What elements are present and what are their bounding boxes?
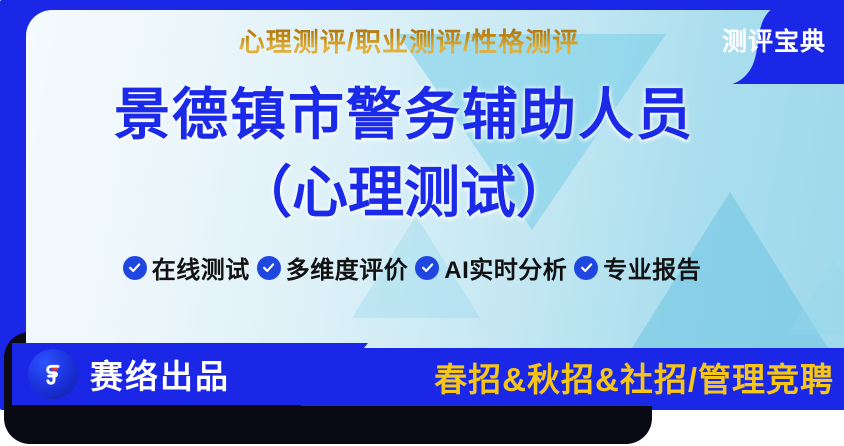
check-circle-icon [123,256,147,280]
feature-item: 专业报告 [574,250,701,285]
feature-label: AI实时分析 [444,250,567,285]
promo-banner: 心理测评/职业测评/性格测评 测评宝典 景德镇市警务辅助人员 （心理测试） 在线… [0,0,844,446]
check-circle-icon [574,256,598,280]
footer-promo-bar: 春招&秋招&社招/管理竞聘 [300,348,844,406]
sailuo-s-logo-icon [28,349,78,399]
feature-list: 在线测试 多维度评价 AI实时分析 [26,250,798,285]
feature-item: 在线测试 [123,250,250,285]
title-line-1: 景德镇市警务辅助人员 [26,76,782,154]
promo-label: 春招&秋招&社招/管理竞聘 [434,353,834,401]
check-circle-icon [257,256,281,280]
page-title: 景德镇市警务辅助人员 （心理测试） [26,76,782,232]
title-line-2: （心理测试） [26,154,782,232]
footer-brand-bar: 赛络出品 [12,343,368,405]
banner-kicker: 心理测评/职业测评/性格测评 [0,22,818,59]
brand-label: 赛络出品 [90,350,230,398]
feature-label: 多维度评价 [286,250,409,285]
feature-label: 专业报告 [603,250,701,285]
corner-tag-label: 测评宝典 [722,22,826,58]
feature-label: 在线测试 [152,250,250,285]
feature-item: AI实时分析 [415,250,567,285]
check-circle-icon [415,256,439,280]
feature-item: 多维度评价 [257,250,409,285]
